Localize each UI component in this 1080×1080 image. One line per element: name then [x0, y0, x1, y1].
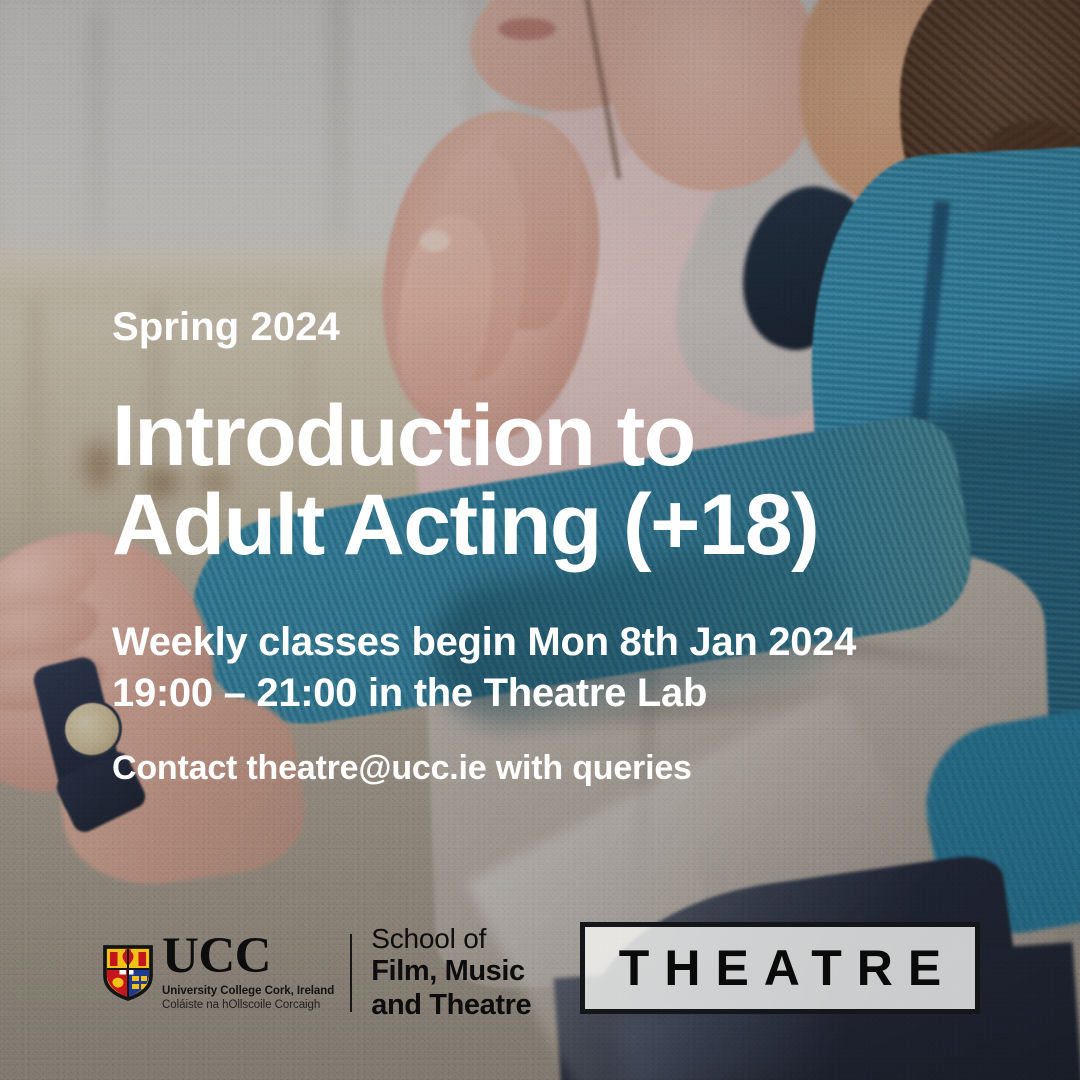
logo-divider — [350, 934, 352, 1012]
ucc-wordmark-block: UCC University College Cork, Ireland Col… — [162, 933, 334, 1013]
poster-copy: Spring 2024 Introduction to Adult Acting… — [112, 306, 1012, 788]
school-line-2: Film, Music — [371, 955, 531, 989]
headline-line-2: Adult Acting (+18) — [112, 481, 1012, 570]
school-line-3: and Theatre — [371, 989, 531, 1023]
school-name-block: School of Film, Music and Theatre — [371, 923, 531, 1023]
headline-line-1: Introduction to — [112, 392, 1012, 481]
page-title: Introduction to Adult Acting (+18) — [112, 392, 1012, 571]
ucc-subtitle-irish: Coláiste na hOllscoile Corcaigh — [162, 998, 334, 1012]
detail-line-dates: Weekly classes begin Mon 8th Jan 2024 — [112, 617, 1012, 668]
detail-line-time-venue: 19:00 – 21:00 in the Theatre Lab — [112, 668, 1012, 719]
theatre-logo-badge[interactable]: THEATRE — [580, 922, 980, 1014]
contact-line[interactable]: Contact theatre@ucc.ie with queries — [112, 749, 1012, 788]
ucc-subtitle-english: University College Cork, Ireland — [162, 984, 334, 998]
poster-canvas: Spring 2024 Introduction to Adult Acting… — [0, 0, 1080, 1080]
ucc-wordmark: UCC — [162, 933, 334, 980]
footer-logos: UCC University College Cork, Ireland Col… — [0, 905, 1080, 1035]
theatre-logo-label: THEATRE — [604, 943, 956, 993]
school-line-1: School of — [371, 923, 531, 955]
ucc-crest-icon — [103, 945, 153, 1001]
ucc-logo-lockup[interactable]: UCC University College Cork, Ireland Col… — [103, 923, 531, 1023]
season-eyebrow: Spring 2024 — [112, 306, 1012, 348]
schedule-details: Weekly classes begin Mon 8th Jan 2024 19… — [112, 617, 1012, 719]
